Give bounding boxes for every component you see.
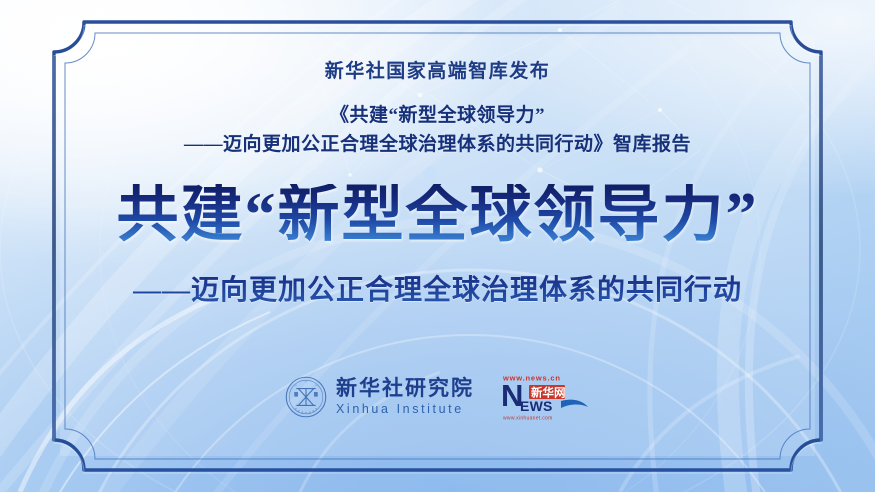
news-cn-swoosh xyxy=(561,400,588,408)
news-cn-mark-sub: EWS xyxy=(520,398,553,414)
report-title-line-1: 《共建“新型全球领导力” xyxy=(330,102,545,130)
sub-title: ——迈向更加公正合理全球治理体系的共同行动 xyxy=(133,268,742,308)
logo-row: 新华社研究院 Xinhua Institute www.news.cn N EW… xyxy=(0,372,875,422)
institute-name-en: Xinhua Institute xyxy=(336,403,474,416)
news-cn-mark-cn: 新华网 xyxy=(531,386,566,400)
news-cn-logo-icon: www.news.cn N EWS 新华网 www.xinhuanet.com xyxy=(498,372,590,422)
publisher-line: 新华社国家高端智库发布 xyxy=(325,56,551,83)
xinhua-institute-logo: 新华社研究院 Xinhua Institute xyxy=(285,376,474,418)
institute-name-block: 新华社研究院 Xinhua Institute xyxy=(336,378,474,416)
news-cn-bottom-url: www.xinhuanet.com xyxy=(503,416,553,422)
institute-name-cn: 新华社研究院 xyxy=(336,378,474,399)
report-title-line-2: ——迈向更加公正合理全球治理体系的共同行动》智库报告 xyxy=(184,131,691,159)
poster-canvas: 新华社国家高端智库发布 《共建“新型全球领导力” ——迈向更加公正合理全球治理体… xyxy=(0,0,875,492)
main-title: 共建“新型全球领导力” xyxy=(116,184,758,246)
xinhua-institute-seal-icon xyxy=(285,376,327,418)
